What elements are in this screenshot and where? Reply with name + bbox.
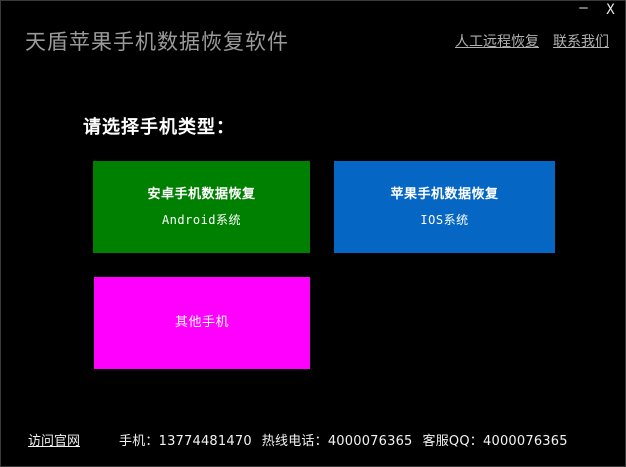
header-link-contact-us[interactable]: 联系我们: [553, 33, 609, 51]
footer-mobile: 手机：13774481470: [119, 434, 252, 449]
footer-mobile-label: 手机：: [119, 434, 159, 449]
window-controls: – X: [577, 2, 617, 18]
header-links: 人工远程恢复 联系我们: [455, 33, 609, 51]
card-title: 安卓手机数据恢复: [147, 186, 255, 204]
header-link-remote-recovery[interactable]: 人工远程恢复: [455, 33, 539, 51]
card-title: 其他手机: [175, 314, 229, 332]
footer-qq: 客服QQ：4000076365: [423, 434, 568, 449]
app-window: – X 天盾苹果手机数据恢复软件 人工远程恢复 联系我们 请选择手机类型： 安卓…: [0, 0, 626, 467]
close-icon[interactable]: X: [604, 2, 617, 18]
phone-type-card-other[interactable]: 其他手机: [94, 277, 310, 369]
minimize-icon[interactable]: –: [577, 0, 590, 16]
brand-title: 天盾苹果手机数据恢复软件: [25, 27, 289, 57]
footer-qq-value: 4000076365: [483, 434, 568, 449]
footer-mobile-value: 13774481470: [159, 434, 252, 449]
footer-hotline-value: 4000076365: [328, 434, 413, 449]
footer-hotline: 热线电话：4000076365: [262, 434, 413, 449]
footer-qq-label: 客服QQ：: [423, 434, 483, 449]
footer-hotline-label: 热线电话：: [262, 434, 328, 449]
footer-link-official-site[interactable]: 访问官网: [28, 432, 80, 452]
main-content: 请选择手机类型： 安卓手机数据恢复 Android系统 苹果手机数据恢复 IOS…: [1, 71, 625, 420]
card-title: 苹果手机数据恢复: [390, 186, 498, 204]
footer: 访问官网 手机：13774481470热线电话：4000076365客服QQ：4…: [1, 432, 625, 454]
footer-contact-info: 手机：13774481470热线电话：4000076365客服QQ：400007…: [119, 432, 568, 452]
phone-type-card-android[interactable]: 安卓手机数据恢复 Android系统: [93, 161, 310, 253]
page-title: 请选择手机类型：: [83, 113, 235, 139]
phone-type-card-ios[interactable]: 苹果手机数据恢复 IOS系统: [334, 161, 555, 253]
card-subtitle: IOS系统: [420, 212, 468, 229]
header: 天盾苹果手机数据恢复软件 人工远程恢复 联系我们: [1, 27, 625, 63]
card-subtitle: Android系统: [162, 212, 241, 229]
title-bar: – X: [1, 1, 625, 23]
